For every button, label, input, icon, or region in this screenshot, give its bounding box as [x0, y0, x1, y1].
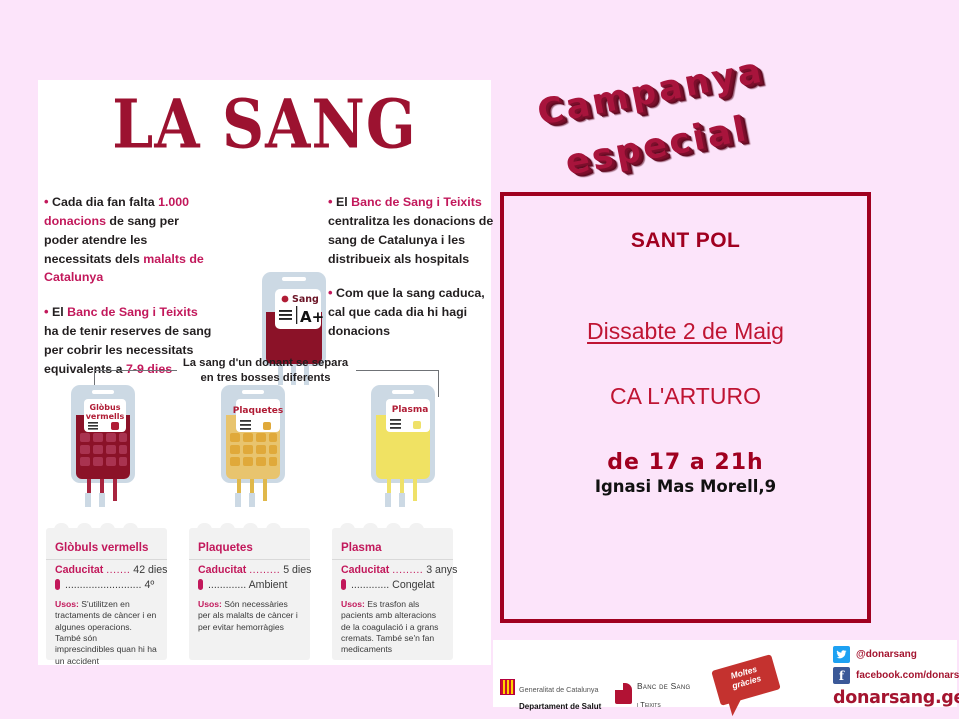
poster-intro-right-column: • El Banc de Sang i Teixits centralitza … — [328, 192, 496, 356]
card-uses: Usos: Es trasfon als pacients amb altera… — [332, 591, 453, 656]
facebook-handle[interactable]: facebook.com/donarsang — [856, 670, 959, 681]
social-links: @donarsang f facebook.com/donarsang dona… — [833, 646, 959, 708]
blood-bag-logo-icon — [615, 683, 632, 704]
bag-label: Sang — [292, 294, 319, 305]
bullet-icon: • — [44, 304, 49, 319]
card-uses: Usos: S'utilitzen en tractaments de cànc… — [46, 591, 167, 667]
bag-label: vermells — [86, 412, 125, 421]
info-card-red-cells: Glòbuls vermells Caducitat ....... 42 di… — [46, 528, 167, 660]
intro-paragraph: • Cada dia fan falta 1.000 donacions de … — [44, 192, 212, 287]
event-hours: de 17 a 21h — [504, 450, 867, 475]
generalitat-line-2: Departament de Salut — [519, 702, 601, 711]
bst-line-1: Banc de Sang — [637, 681, 690, 691]
card-tabs — [340, 523, 424, 533]
event-address: Ignasi Mas Morell,9 — [504, 477, 867, 496]
bag-label: Plaquetes — [233, 406, 283, 416]
card-expiry-row: Caducitat ......... 3 anys — [332, 560, 453, 576]
event-info-box: SANT POL Dissabte 2 de Maig CA L'ARTURO … — [500, 192, 871, 623]
blood-type-label: A+ — [300, 308, 324, 326]
bag-label: Glòbus — [90, 402, 121, 412]
thermometer-icon — [198, 579, 203, 590]
card-temperature-row: ............. Ambient — [189, 576, 310, 591]
website-url[interactable]: donarsang.gencat.cat — [833, 688, 959, 708]
card-temperature-row: .......................... 4º — [46, 576, 167, 591]
bullet-icon: • — [328, 194, 333, 209]
card-tabs — [54, 523, 138, 533]
split-caption: La sang d'un donant se separa en tres bo… — [178, 356, 353, 387]
card-expiry-row: Caducitat ......... 5 dies — [189, 560, 310, 576]
twitter-handle[interactable]: @donarsang — [856, 649, 917, 660]
campaign-wordart: Campanya especial — [530, 100, 870, 192]
thermometer-icon — [55, 579, 60, 590]
generalitat-logo: Generalitat de Catalunya Departament de … — [500, 679, 601, 714]
generalitat-line-1: Generalitat de Catalunya — [519, 685, 599, 694]
card-expiry-row: Caducitat ....... 42 dies — [46, 560, 167, 576]
intro-paragraph: • El Banc de Sang i Teixits centralitza … — [328, 192, 496, 268]
event-town: SANT POL — [504, 229, 867, 253]
facebook-row[interactable]: f facebook.com/donarsang — [833, 667, 959, 684]
bullet-icon: • — [44, 194, 49, 209]
intro-paragraph: • Com que la sang caduca, cal que cada d… — [328, 283, 496, 341]
twitter-icon[interactable] — [833, 646, 850, 663]
facebook-icon[interactable]: f — [833, 667, 850, 684]
bst-line-2: i Teixits — [637, 700, 661, 709]
bag-label: Plasma — [392, 405, 429, 415]
page-title: LA SANG — [24, 84, 504, 163]
platelets-bag-icon: Plaquetes — [215, 385, 293, 510]
info-card-plasma: Plasma Caducitat ......... 3 anys ......… — [332, 528, 453, 660]
event-date: Dissabte 2 de Maig — [504, 318, 867, 345]
banc-de-sang-logo: Banc de Sang i Teixits — [615, 676, 690, 711]
card-temperature-row: ............. Congelat — [332, 576, 453, 591]
card-tabs — [197, 523, 281, 533]
twitter-row[interactable]: @donarsang — [833, 646, 959, 663]
plasma-bag-icon: Plasma — [365, 385, 443, 510]
catalonia-flag-icon — [500, 679, 515, 695]
info-card-platelets: Plaquetes Caducitat ......... 5 dies ...… — [189, 528, 310, 660]
event-venue: CA L'ARTURO — [504, 383, 867, 410]
blood-donation-poster: LA SANG • Cada dia fan falta 1.000 donac… — [38, 80, 491, 665]
sponsor-banner: Generalitat de Catalunya Departament de … — [493, 640, 957, 707]
card-uses: Usos: Són necessàries per als malalts de… — [189, 591, 310, 633]
thermometer-icon — [341, 579, 346, 590]
thanks-speech-bubble: Moltes gràcies — [711, 654, 781, 706]
red-cells-bag-icon: Glòbus vermells — [65, 385, 143, 510]
